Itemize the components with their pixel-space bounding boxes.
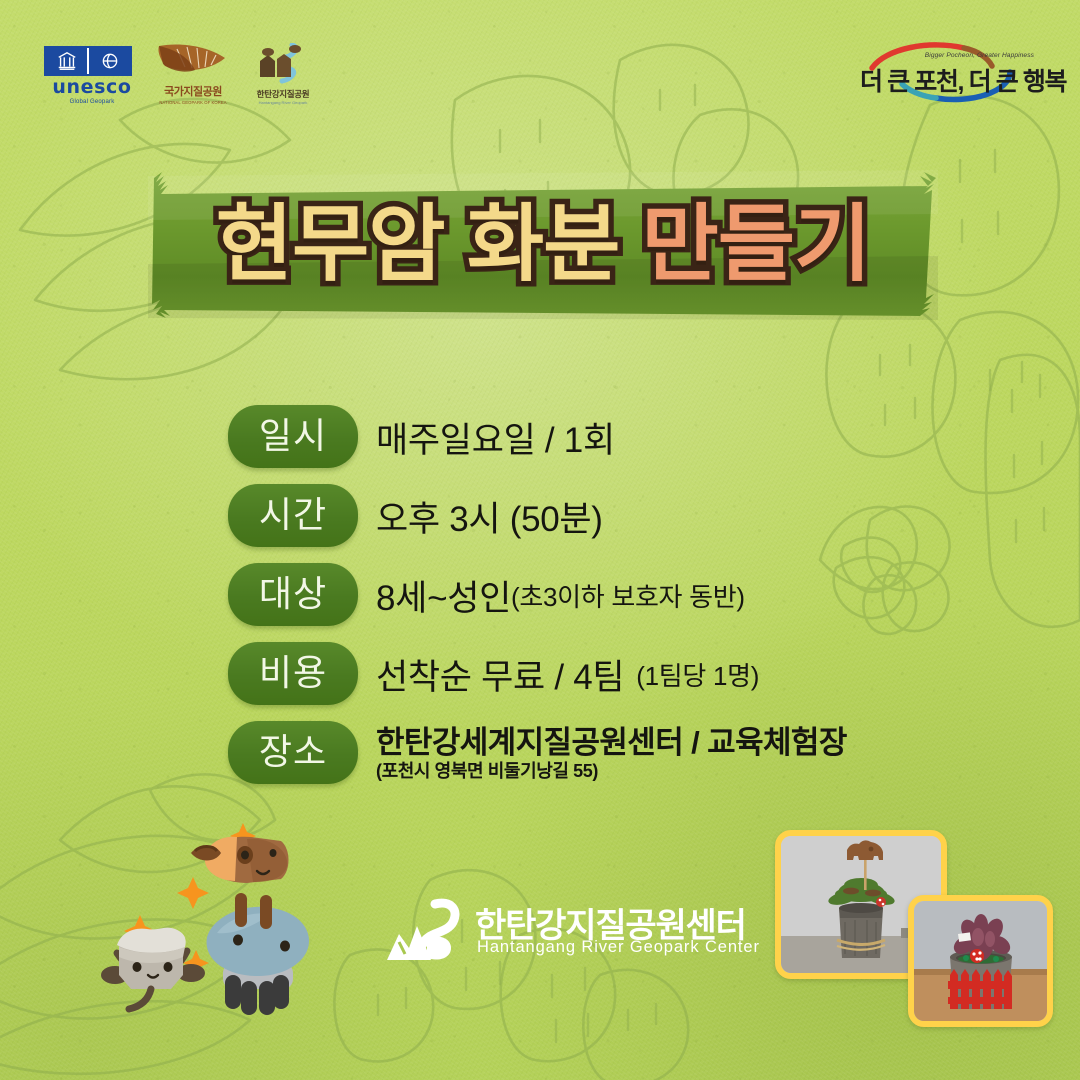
greek-temple-icon (46, 48, 87, 74)
unesco-wordmark: unesco (44, 78, 140, 98)
national-geopark-title: 국가지질공원 (154, 87, 232, 98)
info-label-time: 시간 (228, 484, 358, 547)
info-label-date-text: 일시 (259, 418, 327, 454)
pocheon-slogan-kr: 더 큰 포천, 더 큰 행복 (860, 62, 1036, 98)
info-row-date: 일시 매주일요일 / 1회 (228, 400, 988, 475)
info-row-time: 시간 오후 3시 (50분) (228, 479, 988, 554)
info-label-audience: 대상 (228, 563, 358, 626)
national-geopark-logo: 국가지질공원 NATIONAL GEOPARK OF KOREA (154, 40, 232, 105)
title-part1: 현무암 화분 (216, 202, 620, 286)
info-value-audience: 8세~성인(초3이하 보호자 동반) (376, 558, 745, 633)
info-label-audience-text: 대상 (259, 576, 327, 612)
info-row-audience: 대상 8세~성인(초3이하 보호자 동반) (228, 558, 988, 633)
info-row-place: 장소 한탄강세계지질공원센터 / 교육체험장 (포천시 영북면 비둘기낭길 55… (228, 716, 988, 791)
info-value-place: 한탄강세계지질공원센터 / 교육체험장 (포천시 영북면 비둘기낭길 55) (376, 716, 847, 791)
hantangang-geopark-logo: 한탄강지질공원 Hantangang River Geopark (246, 43, 320, 106)
pocheon-slogan-logo: Bigger Pocheon, Greater Happiness 더 큰 포천… (860, 42, 1036, 104)
unesco-emblem-box (44, 46, 132, 76)
partner-logos: unesco Global Geopark 국가지질공원 NATIONAL GE… (44, 40, 320, 105)
mascot-group (95, 805, 355, 1045)
poster-root: unesco Global Geopark 국가지질공원 NATIONAL GE… (0, 0, 1080, 1080)
fan-rock-icon (155, 40, 231, 82)
info-label-fee-text: 비용 (259, 655, 327, 691)
info-value-date: 매주일요일 / 1회 (376, 400, 615, 475)
place-line-venue: 한탄강세계지질공원센터 / 교육체험장 (376, 725, 847, 761)
geopark-center-mark-icon (383, 898, 469, 968)
poster-title: 현무암 화분 만들기 (148, 168, 938, 320)
info-row-fee: 비용 선착순 무료 / 4팀(1팀당 1명) (228, 637, 988, 712)
unesco-logo: unesco Global Geopark (44, 46, 140, 105)
white-rock-mascot (101, 928, 205, 1009)
basalt-pot-with-red-fence-photo (908, 895, 1053, 1027)
info-value-time: 오후 3시 (50분) (376, 479, 603, 554)
footer-geopark-center-logo: 한탄강지질공원센터 Hantangang River Geopark Cente… (383, 896, 713, 970)
info-label-date: 일시 (228, 405, 358, 468)
river-cliff-icon (248, 43, 318, 85)
info-label-fee: 비용 (228, 642, 358, 705)
pocheon-slogan-en: Bigger Pocheon, Greater Happiness (925, 52, 1034, 59)
info-label-place-text: 장소 (259, 734, 327, 770)
info-list: 일시 매주일요일 / 1회 시간 오후 3시 (50분) 대상 8세~성인(초3… (228, 400, 988, 795)
globe-icon (87, 48, 130, 74)
title-banner: 현무암 화분 만들기 (148, 168, 938, 320)
hantangang-geopark-subtitle: Hantangang River Geopark (246, 100, 320, 105)
title-part2: 만들기 (641, 202, 870, 286)
info-label-place: 장소 (228, 721, 358, 784)
info-label-time-text: 시간 (259, 497, 327, 533)
info-value-fee: 선착순 무료 / 4팀(1팀당 1명) (376, 637, 759, 712)
blue-rock-mascot (207, 907, 309, 1015)
footer-logo-en: Hantangang River Geopark Center (477, 938, 760, 957)
national-geopark-subtitle: NATIONAL GEOPARK OF KOREA (154, 100, 232, 105)
place-line-address: (포천시 영북면 비둘기낭길 55) (376, 761, 598, 783)
hantangang-geopark-title: 한탄강지질공원 (246, 90, 320, 99)
unesco-subtitle: Global Geopark (44, 99, 140, 105)
